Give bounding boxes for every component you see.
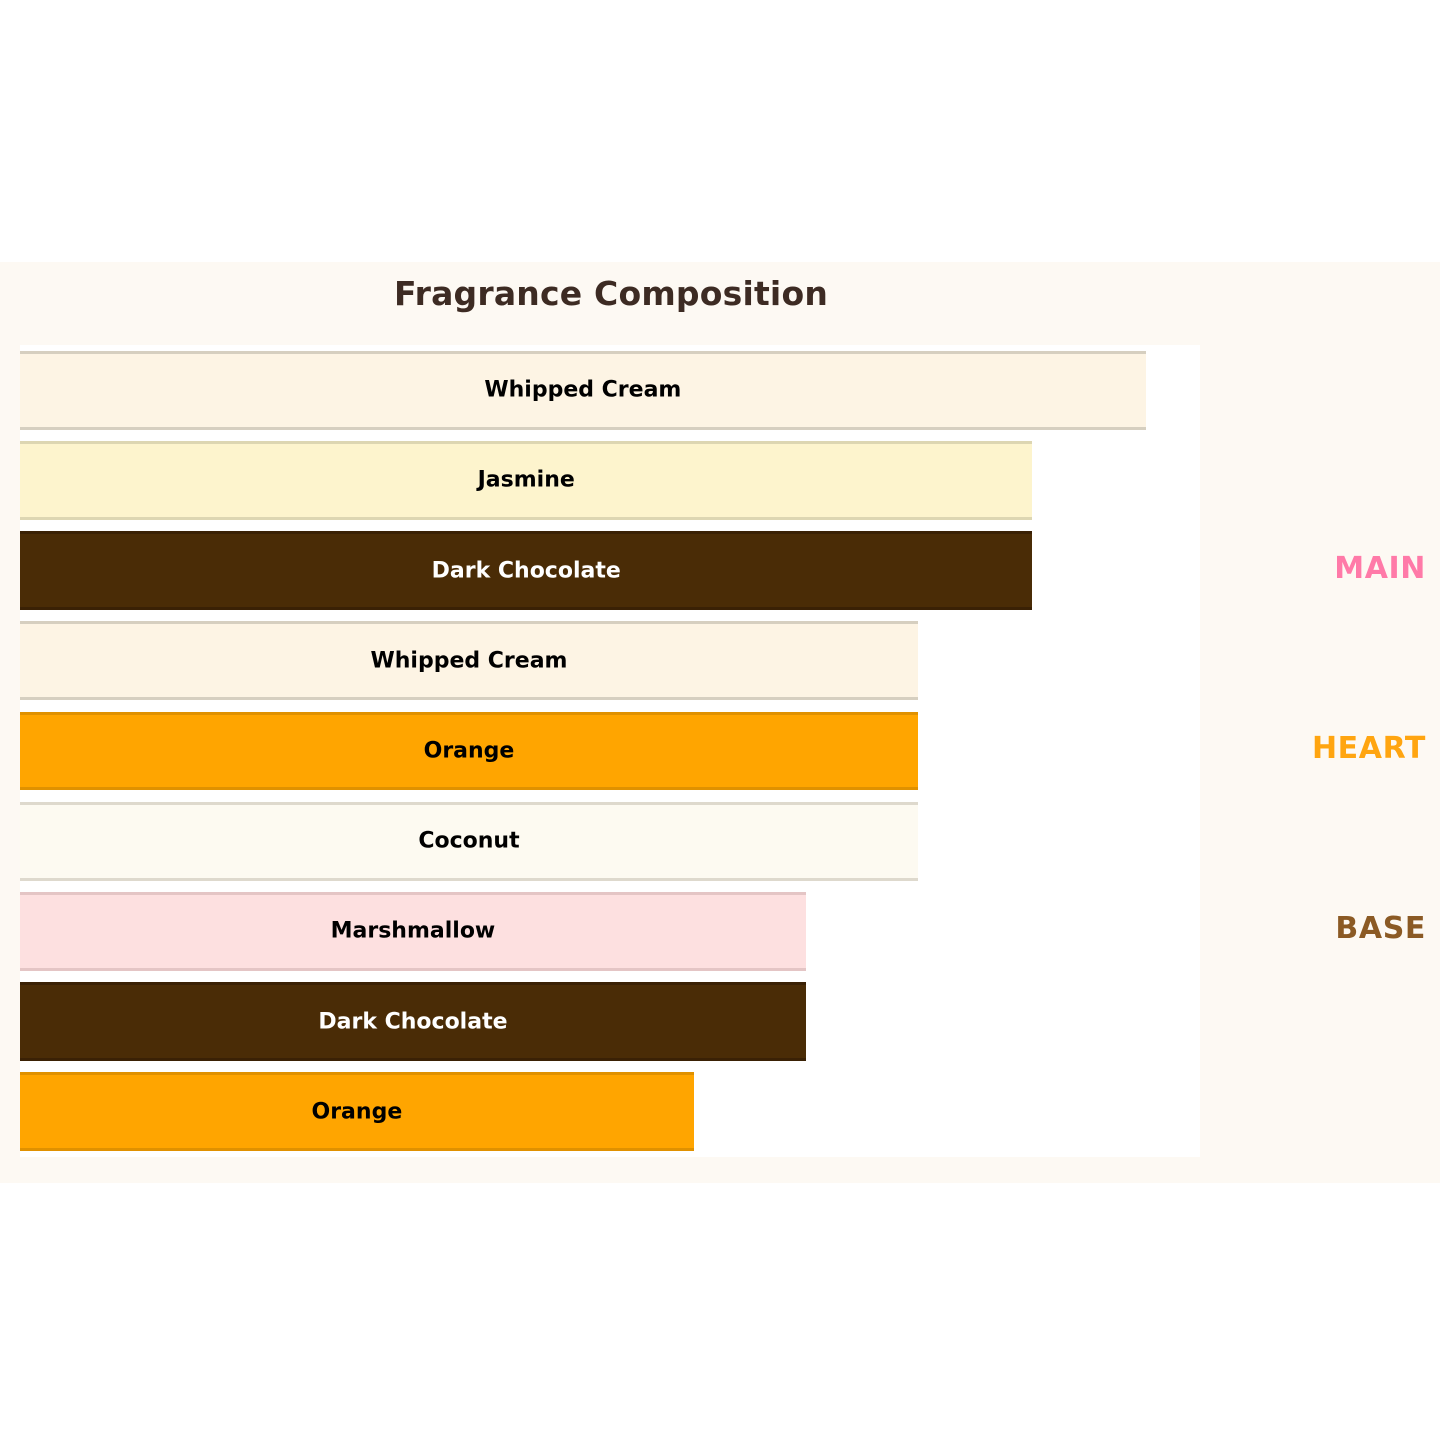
bar-row: Whipped Cream bbox=[20, 351, 1200, 430]
bar-jasmine[interactable] bbox=[20, 441, 1032, 520]
category-label-base: BASE bbox=[1335, 911, 1426, 946]
bar-row: Whipped Cream bbox=[20, 621, 1200, 700]
bar-orange[interactable] bbox=[20, 1072, 694, 1151]
bar-row: Orange bbox=[20, 712, 1200, 791]
bar-row: Dark Chocolate bbox=[20, 531, 1200, 610]
bar-coconut[interactable] bbox=[20, 802, 918, 881]
bar-marshmallow[interactable] bbox=[20, 892, 806, 971]
bar-dark-chocolate[interactable] bbox=[20, 531, 1032, 610]
chart-figure: Fragrance Composition Whipped CreamJasmi… bbox=[0, 262, 1440, 1183]
category-label-main: MAIN bbox=[1334, 551, 1426, 586]
bar-dark-chocolate[interactable] bbox=[20, 982, 806, 1061]
page-title: Fragrance Composition bbox=[0, 274, 1222, 313]
bar-row: Coconut bbox=[20, 802, 1200, 881]
bar-row: Dark Chocolate bbox=[20, 982, 1200, 1061]
bar-orange[interactable] bbox=[20, 712, 918, 791]
bar-whipped-cream[interactable] bbox=[20, 621, 918, 700]
category-label-heart: HEART bbox=[1312, 731, 1426, 766]
bar-whipped-cream[interactable] bbox=[20, 351, 1146, 430]
bar-row: Jasmine bbox=[20, 441, 1200, 520]
bar-row: Orange bbox=[20, 1072, 1200, 1151]
bar-row: Marshmallow bbox=[20, 892, 1200, 971]
plot-area: Whipped CreamJasmineDark ChocolateWhippe… bbox=[20, 345, 1200, 1157]
